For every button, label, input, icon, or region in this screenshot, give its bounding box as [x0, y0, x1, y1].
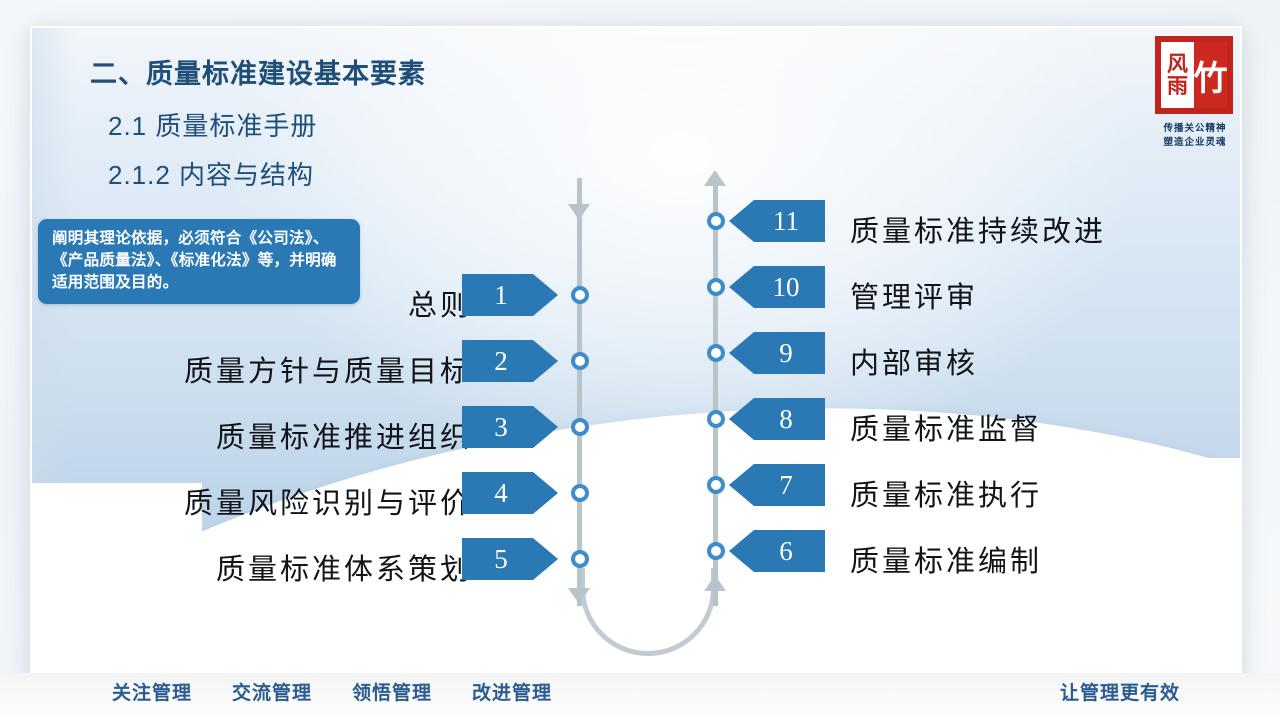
- seal-subtitle-line-1: 传播关公精神: [1149, 120, 1240, 134]
- right-item-number-9: 9: [779, 338, 793, 369]
- slide-heading-secondary: 2.1 质量标准手册: [108, 106, 317, 143]
- footer-tagline: 让管理更有效: [1060, 683, 1180, 704]
- left-item-number-2: 2: [494, 346, 508, 377]
- seal-subtitle-line-2: 塑造企业灵魂: [1149, 134, 1240, 148]
- right-item-label-11: 质量标准持续改进: [850, 208, 1106, 250]
- right-item-chevron-11[interactable]: 11: [729, 200, 825, 242]
- right-item-number-11: 11: [773, 206, 799, 237]
- left-item-label-5: 质量标准体系策划: [32, 546, 472, 588]
- right-item-label-6: 质量标准编制: [850, 538, 1042, 580]
- footer-tagline-wrap: 让管理更有效: [1060, 678, 1180, 705]
- rail-dot-left-2[interactable]: [571, 352, 589, 370]
- company-seal-logo: 风 雨 竹 传播关公精神 塑造企业灵魂: [1149, 28, 1240, 160]
- right-item-label-9: 内部审核: [850, 340, 978, 382]
- rail-dot-left-1[interactable]: [571, 286, 589, 304]
- rail-dot-right-8[interactable]: [707, 410, 725, 428]
- seal-stamp-box: 风 雨 竹: [1155, 36, 1233, 114]
- seal-left-characters: 风 雨: [1161, 42, 1194, 108]
- slide-stage: 二、质量标准建设基本要素 2.1 质量标准手册 2.1.2 内容与结构 总则 1…: [0, 0, 1280, 720]
- right-item-chevron-7[interactable]: 7: [729, 464, 825, 506]
- rail-dot-left-3[interactable]: [571, 418, 589, 436]
- left-item-chevron-4[interactable]: 4: [462, 472, 558, 514]
- seal-char-feng: 风: [1167, 53, 1188, 75]
- left-item-number-4: 4: [494, 478, 508, 509]
- arrow-down-icon-left-top: [568, 204, 590, 220]
- right-item-chevron-6[interactable]: 6: [729, 530, 825, 572]
- rail-dot-left-4[interactable]: [571, 484, 589, 502]
- left-item-number-1: 1: [494, 280, 508, 311]
- white-curve-right-fill: [1032, 458, 1240, 673]
- rail-dot-right-11[interactable]: [707, 212, 725, 230]
- right-item-chevron-10[interactable]: 10: [729, 266, 825, 308]
- rail-dot-left-5[interactable]: [571, 550, 589, 568]
- footer-item-2: 交流管理: [232, 678, 312, 705]
- seal-right-character: 竹: [1194, 42, 1227, 108]
- right-item-number-7: 7: [779, 470, 793, 501]
- right-item-number-10: 10: [773, 272, 800, 303]
- left-item-chevron-5[interactable]: 5: [462, 538, 558, 580]
- slide-heading-primary: 二、质量标准建设基本要素: [90, 52, 426, 91]
- right-item-number-6: 6: [779, 536, 793, 567]
- left-item-chevron-1[interactable]: 1: [462, 274, 558, 316]
- right-item-chevron-9[interactable]: 9: [729, 332, 825, 374]
- right-item-number-8: 8: [779, 404, 793, 435]
- left-item-label-2: 质量方针与质量目标: [32, 348, 472, 390]
- left-item-chevron-3[interactable]: 3: [462, 406, 558, 448]
- footer-items: 关注管理 交流管理 领悟管理 改进管理: [112, 678, 552, 705]
- slide-heading-tertiary: 2.1.2 内容与结构: [108, 155, 314, 192]
- arrow-up-icon-right-top: [704, 170, 726, 186]
- left-item-label-4: 质量风险识别与评价: [32, 480, 472, 522]
- rail-dot-right-9[interactable]: [707, 344, 725, 362]
- left-item-number-3: 3: [494, 412, 508, 443]
- left-item-label-3: 质量标准推进组织: [32, 414, 472, 456]
- rail-dot-right-6[interactable]: [707, 542, 725, 560]
- callout-box: 阐明其理论依据，必须符合《公司法》、《产品质量法》、《标准化法》等，并明确适用范…: [38, 219, 360, 304]
- rail-dot-right-7[interactable]: [707, 476, 725, 494]
- right-item-label-8: 质量标准监督: [850, 406, 1042, 448]
- right-item-label-7: 质量标准执行: [850, 472, 1042, 514]
- arrow-down-icon-left-bottom: [568, 588, 590, 604]
- right-item-chevron-8[interactable]: 8: [729, 398, 825, 440]
- timeline-rail-left: [577, 178, 582, 606]
- arrow-up-icon-right-bottom: [704, 575, 726, 591]
- footer-item-1: 关注管理: [112, 678, 192, 705]
- seal-char-yu: 雨: [1167, 75, 1188, 97]
- timeline-u-connector: [580, 568, 716, 656]
- left-item-number-5: 5: [494, 544, 508, 575]
- right-item-label-10: 管理评审: [850, 274, 978, 316]
- footer-item-4: 改进管理: [472, 678, 552, 705]
- left-item-chevron-2[interactable]: 2: [462, 340, 558, 382]
- rail-dot-right-10[interactable]: [707, 278, 725, 296]
- slide-canvas: 二、质量标准建设基本要素 2.1 质量标准手册 2.1.2 内容与结构 总则 1…: [32, 28, 1240, 673]
- footer-item-3: 领悟管理: [352, 678, 432, 705]
